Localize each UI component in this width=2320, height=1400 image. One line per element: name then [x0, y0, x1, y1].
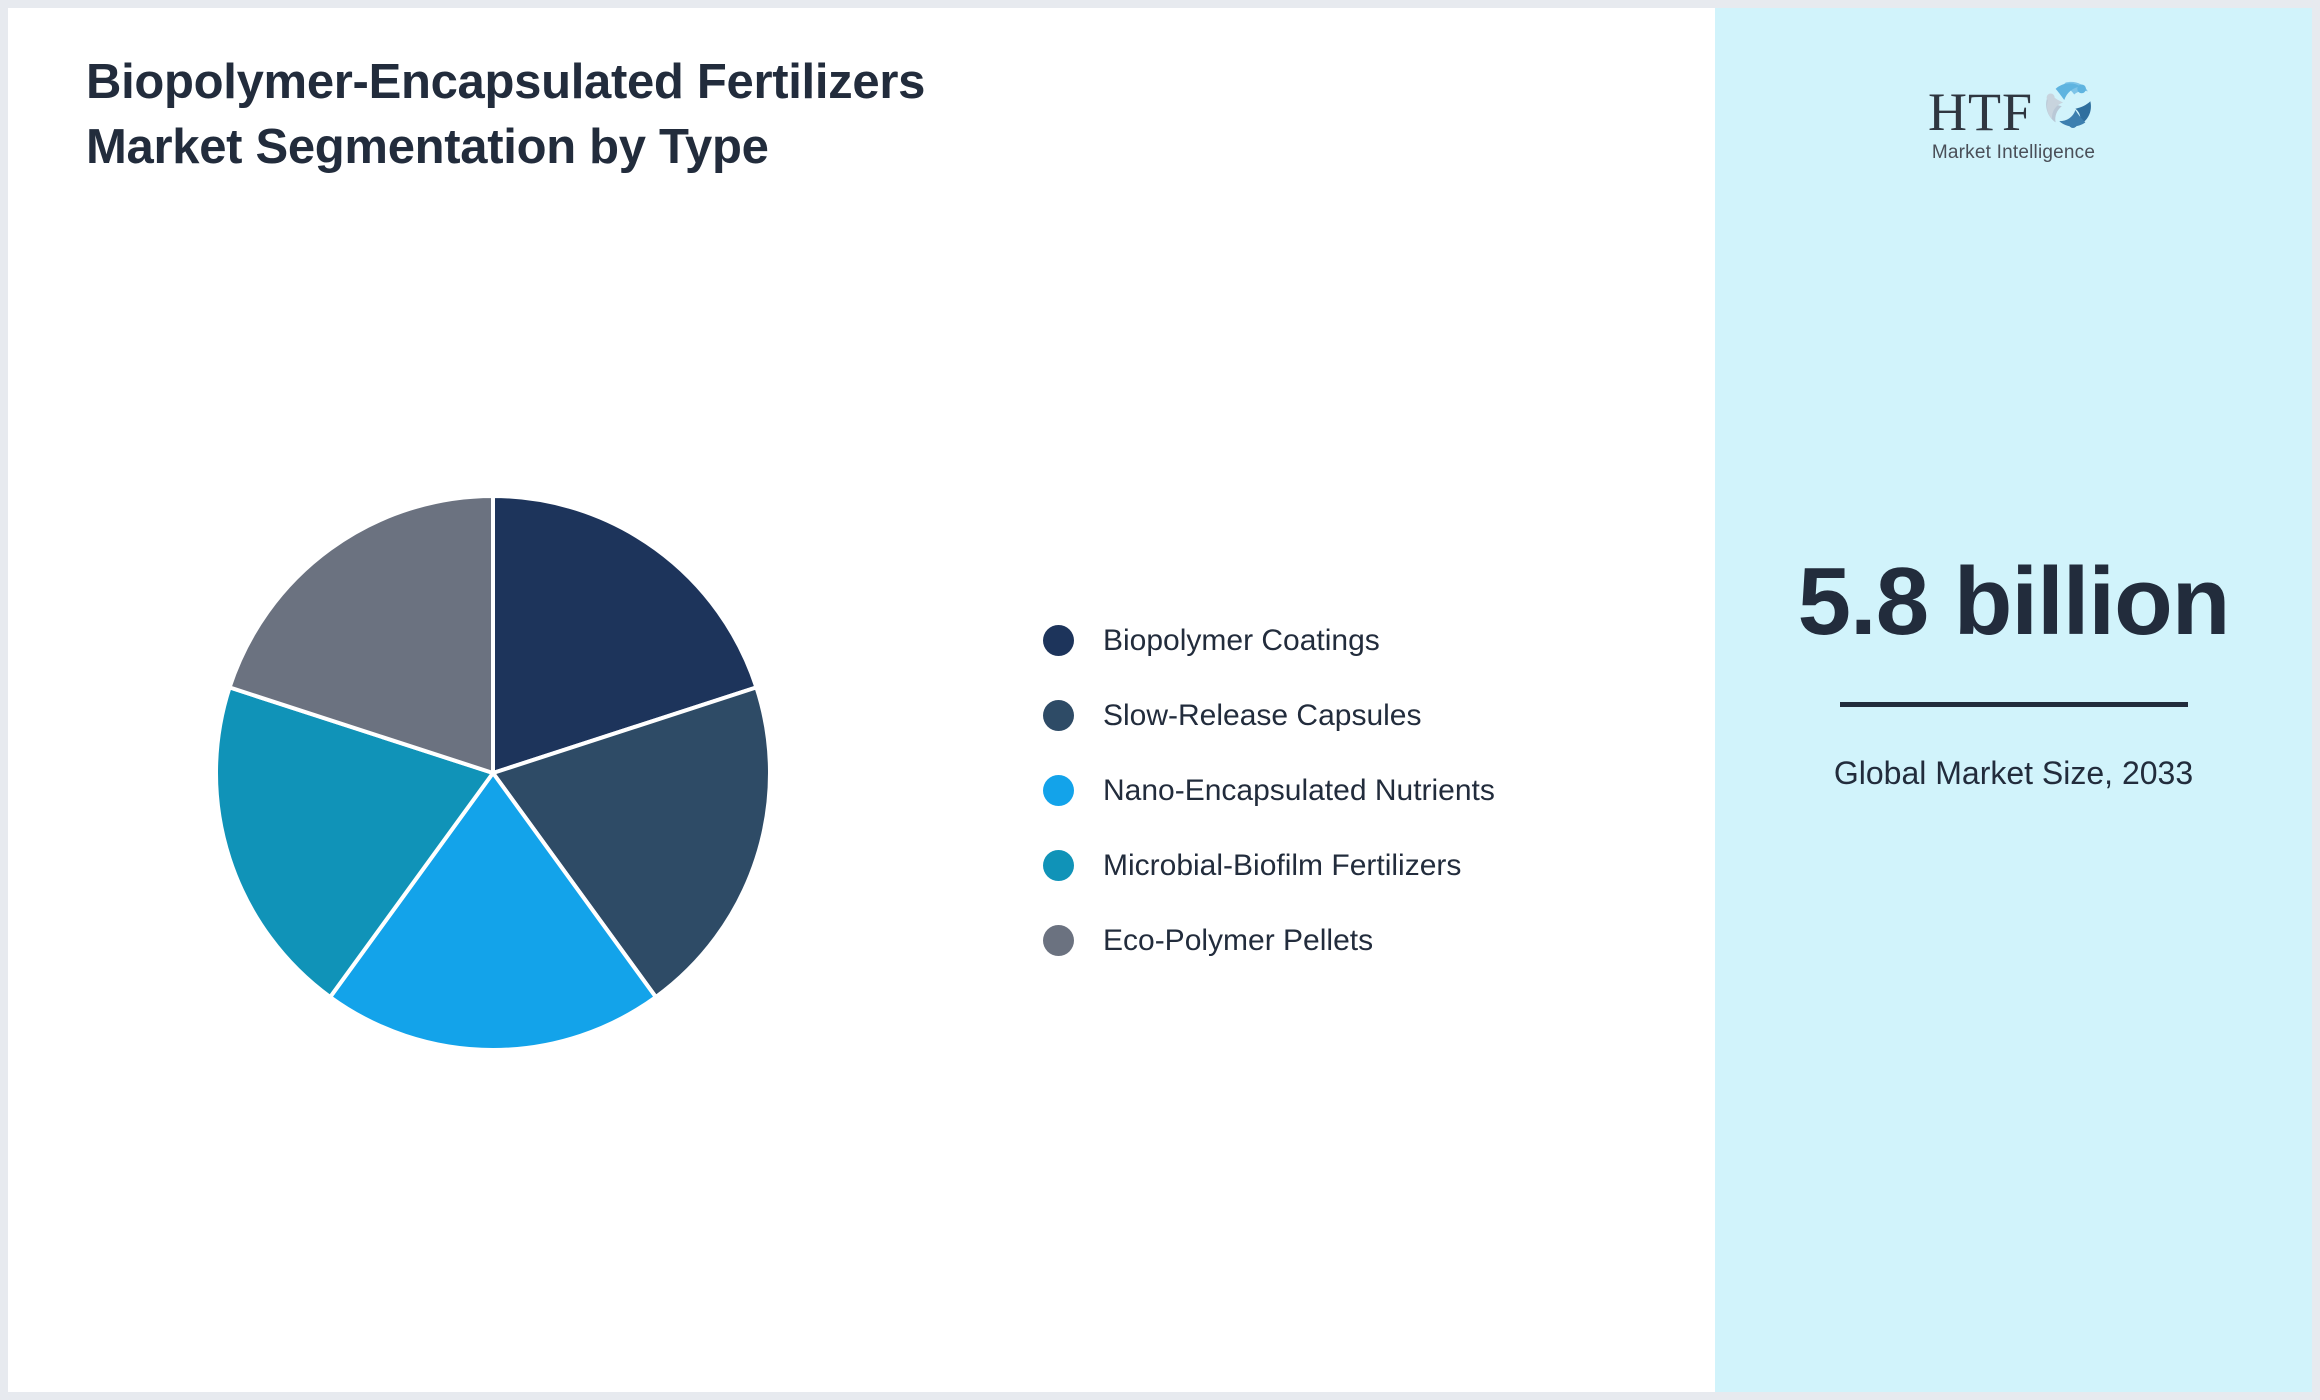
three-people-circle-icon	[2037, 74, 2099, 136]
legend-label: Microbial-Biofilm Fertilizers	[1103, 851, 1461, 881]
stat-block: 5.8 billion Global Market Size, 2033	[1715, 548, 2312, 796]
pie-svg	[213, 493, 773, 1053]
brand-logo: HTF M	[1715, 76, 2312, 164]
logo-wordmark: HTF	[1928, 87, 2033, 138]
legend-item-biopolymer-coatings[interactable]: Biopolymer Coatings	[1043, 603, 1603, 678]
legend-label: Eco-Polymer Pellets	[1103, 926, 1373, 956]
legend-swatch-icon	[1043, 925, 1074, 956]
legend-label: Biopolymer Coatings	[1103, 626, 1380, 656]
legend-label: Nano-Encapsulated Nutrients	[1103, 776, 1495, 806]
stat-value: 5.8 billion	[1715, 548, 2312, 656]
legend-swatch-icon	[1043, 775, 1074, 806]
pie-chart-graphic	[213, 493, 773, 1053]
legend-swatch-icon	[1043, 850, 1074, 881]
legend-item-nano-encapsulated-nutrients[interactable]: Nano-Encapsulated Nutrients	[1043, 753, 1603, 828]
chart-legend: Biopolymer Coatings Slow-Release Capsule…	[1043, 603, 1603, 978]
side-panel: HTF M	[1715, 8, 2312, 1392]
legend-swatch-icon	[1043, 700, 1074, 731]
legend-item-microbial-biofilm-fertilizers[interactable]: Microbial-Biofilm Fertilizers	[1043, 828, 1603, 903]
pie-chart: Biopolymer Coatings Slow-Release Capsule…	[8, 8, 1715, 1392]
infographic-card: Biopolymer-Encapsulated Fertilizers Mark…	[8, 8, 2312, 1392]
stat-caption: Global Market Size, 2033	[1715, 751, 2312, 796]
legend-item-eco-polymer-pellets[interactable]: Eco-Polymer Pellets	[1043, 903, 1603, 978]
main-panel: Biopolymer-Encapsulated Fertilizers Mark…	[8, 8, 1715, 1392]
legend-item-slow-release-capsules[interactable]: Slow-Release Capsules	[1043, 678, 1603, 753]
stat-divider	[1840, 702, 2188, 707]
pie-slice-group	[216, 496, 770, 1050]
logo-tagline: Market Intelligence	[1899, 142, 2129, 164]
legend-swatch-icon	[1043, 625, 1074, 656]
legend-label: Slow-Release Capsules	[1103, 701, 1422, 731]
